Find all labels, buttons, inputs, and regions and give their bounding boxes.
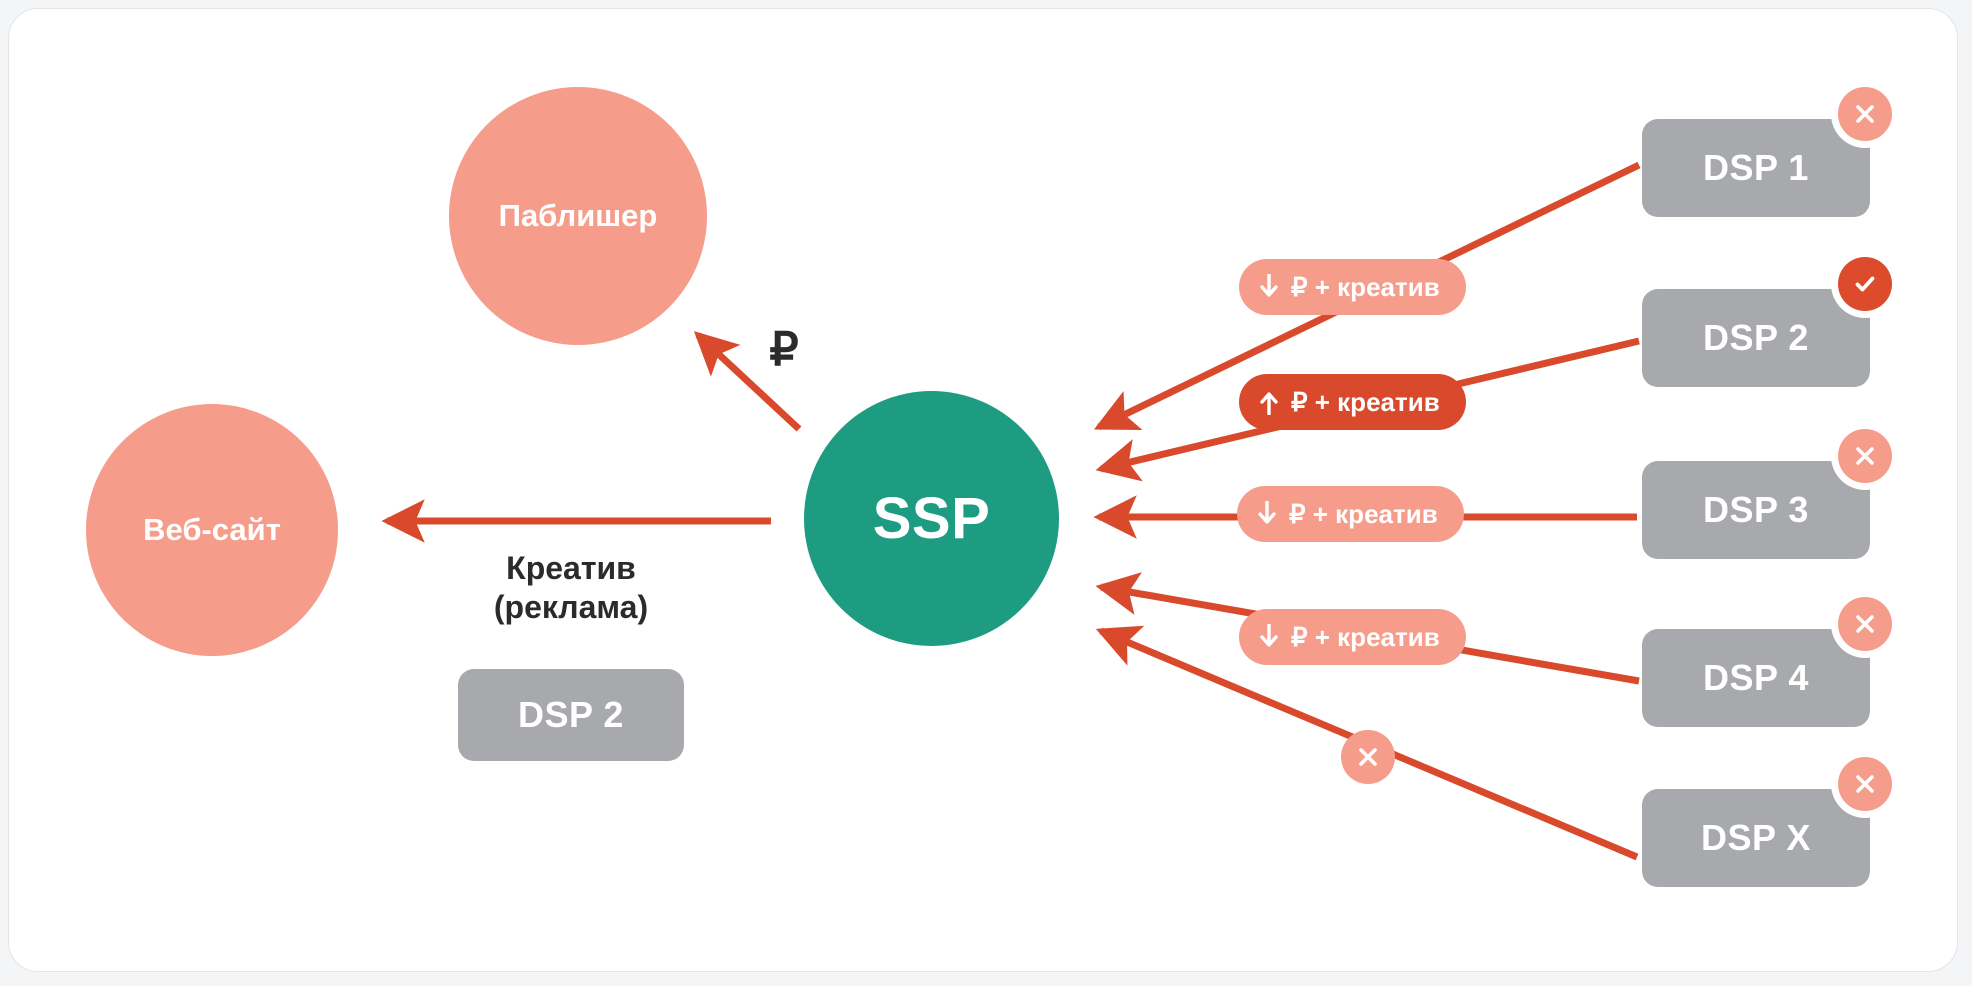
node-website[interactable]: Веб-сайт xyxy=(86,404,338,656)
dsp-box-x-label: DSP X xyxy=(1701,817,1811,859)
dsp-3-status-badge[interactable] xyxy=(1838,429,1892,483)
dsp-box-4[interactable]: DSP 4 xyxy=(1642,629,1870,727)
close-icon xyxy=(1852,771,1878,797)
node-publisher[interactable]: Паблишер xyxy=(449,87,707,345)
close-icon xyxy=(1852,101,1878,127)
dsp-box-1-label: DSP 1 xyxy=(1703,147,1809,189)
ruble-symbol-label: ₽ xyxy=(754,321,814,377)
dsp-4-status-badge[interactable] xyxy=(1838,597,1892,651)
winning-dsp-box[interactable]: DSP 2 xyxy=(458,669,684,761)
dsp-box-3[interactable]: DSP 3 xyxy=(1642,461,1870,559)
node-ssp[interactable]: SSP xyxy=(804,391,1059,646)
close-icon xyxy=(1355,744,1381,770)
dsp-box-3-label: DSP 3 xyxy=(1703,489,1809,531)
close-icon xyxy=(1852,611,1878,637)
dsp-box-1[interactable]: DSP 1 xyxy=(1642,119,1870,217)
bid-pill-3-text: ₽ + креатив xyxy=(1289,499,1438,530)
dsp-box-2[interactable]: DSP 2 xyxy=(1642,289,1870,387)
bid-pill-4[interactable]: ₽ + креатив xyxy=(1239,609,1466,665)
creative-caption-line1: Креатив xyxy=(411,549,731,588)
dsp-x-status-badge[interactable] xyxy=(1838,757,1892,811)
dsp-box-2-label: DSP 2 xyxy=(1703,317,1809,359)
arrow-down-icon xyxy=(1257,501,1277,527)
dsp-2-status-badge[interactable] xyxy=(1838,257,1892,311)
bid-pill-2-text: ₽ + креатив xyxy=(1291,387,1440,418)
creative-caption: Креатив (реклама) xyxy=(411,549,731,627)
check-icon xyxy=(1851,270,1879,298)
connection-blocked-badge[interactable] xyxy=(1341,730,1395,784)
dsp-box-4-label: DSP 4 xyxy=(1703,657,1809,699)
bid-pill-2[interactable]: ₽ + креатив xyxy=(1239,374,1466,430)
bid-pill-1-text: ₽ + креатив xyxy=(1291,272,1440,303)
node-ssp-label: SSP xyxy=(873,487,991,551)
node-publisher-label: Паблишер xyxy=(499,199,658,233)
arrow-down-icon xyxy=(1259,624,1279,650)
arrow-down-icon xyxy=(1259,274,1279,300)
bid-pill-4-text: ₽ + креатив xyxy=(1291,622,1440,653)
arrow-up-icon xyxy=(1259,389,1279,415)
node-website-label: Веб-сайт xyxy=(143,513,281,547)
bid-pill-3[interactable]: ₽ + креатив xyxy=(1237,486,1464,542)
bid-pill-1[interactable]: ₽ + креатив xyxy=(1239,259,1466,315)
diagram-stage: Паблишер Веб-сайт SSP ₽ Креатив (реклама… xyxy=(0,0,1972,986)
close-icon xyxy=(1852,443,1878,469)
winning-dsp-label: DSP 2 xyxy=(518,694,624,736)
creative-caption-line2: (реклама) xyxy=(411,588,731,627)
diagram-card: Паблишер Веб-сайт SSP ₽ Креатив (реклама… xyxy=(8,8,1958,972)
dsp-1-status-badge[interactable] xyxy=(1838,87,1892,141)
dsp-box-x[interactable]: DSP X xyxy=(1642,789,1870,887)
